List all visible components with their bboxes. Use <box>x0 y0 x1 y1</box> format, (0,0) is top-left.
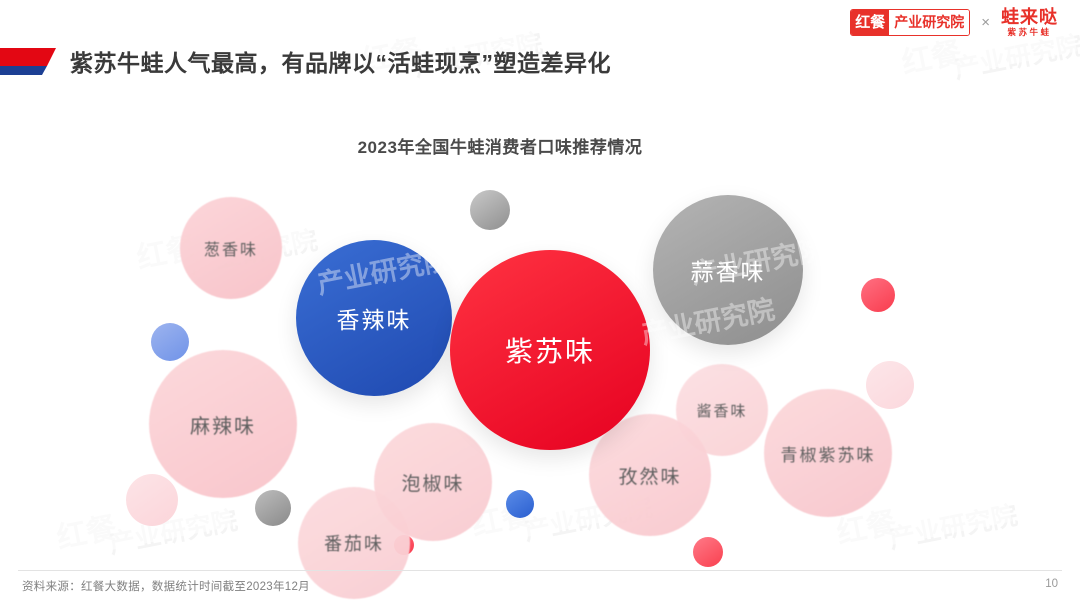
hongcan-logo: 红餐 产业研究院 <box>850 9 970 36</box>
footer-divider <box>18 570 1062 571</box>
red-dot-right <box>861 278 895 312</box>
bubble-label: 麻辣味 <box>190 410 256 439</box>
walaida-logo-main: 蛙来哒 <box>1001 8 1058 26</box>
page-number: 10 <box>1045 578 1058 590</box>
bubble-泡椒味[interactable]: 泡椒味 <box>374 423 492 541</box>
blue-dot-left <box>151 323 189 361</box>
footer-source-note: 资料来源：红餐大数据，数据统计时间截至2023年12月 <box>22 578 310 594</box>
bubble-麻辣味[interactable]: 麻辣味 <box>149 350 297 498</box>
hongcan-logo-mark: 红餐 <box>851 10 889 35</box>
bubble-label: 香辣味 <box>337 301 412 335</box>
bubble-label: 孜然味 <box>618 462 681 489</box>
hongcan-logo-text: 产业研究院 <box>889 10 969 35</box>
bubble-香辣味[interactable]: 香辣味 <box>296 240 452 396</box>
page-title: 紫苏牛蛙人气最高，有品牌以“活蛙现烹”塑造差异化 <box>70 44 611 78</box>
gray-dot-top <box>470 190 510 230</box>
walaida-logo-sub: 紫苏牛蛙 <box>1007 28 1051 37</box>
chart-heading: 2023年全国牛蛙消费者口味推荐情况 <box>0 133 1000 158</box>
pink-dot-right-low <box>866 361 914 409</box>
logo-separator-icon: × <box>979 14 992 31</box>
bubble-label: 青椒紫苏味 <box>781 441 876 466</box>
bubble-青椒紫苏味[interactable]: 青椒紫苏味 <box>764 389 892 517</box>
slide-root: 红餐 产业研究院 红餐 产业研究院 红餐 产业研究院 红餐 产业研究院 红餐 产… <box>0 0 1080 608</box>
bubble-label: 蒜香味 <box>691 253 766 287</box>
blue-dot-center <box>506 490 534 518</box>
bubble-label: 泡椒味 <box>401 469 464 496</box>
logo-lockup: 红餐 产业研究院 × 蛙来哒 紫苏牛蛙 <box>850 8 1058 37</box>
walaida-logo: 蛙来哒 紫苏牛蛙 <box>1001 8 1058 37</box>
flag-accent-icon <box>0 46 56 76</box>
bubble-紫苏味[interactable]: 紫苏味 <box>450 250 650 450</box>
bubble-孜然味[interactable]: 孜然味 <box>589 414 711 536</box>
bubble-chart: 酱香味葱香味番茄味泡椒味孜然味青椒紫苏味麻辣味蒜香味香辣味紫苏味 <box>0 170 1080 565</box>
gray-dot-bottom-left <box>255 490 291 526</box>
bubble-蒜香味[interactable]: 蒜香味 <box>653 195 803 345</box>
title-row: 紫苏牛蛙人气最高，有品牌以“活蛙现烹”塑造差异化 <box>0 44 611 78</box>
pink-dot-left-edge <box>126 474 178 526</box>
bubble-label: 酱香味 <box>696 400 747 421</box>
bubble-label: 番茄味 <box>324 530 384 556</box>
bubble-葱香味[interactable]: 葱香味 <box>180 197 282 299</box>
bubble-label: 葱香味 <box>204 236 258 260</box>
red-dot-bottom <box>693 537 723 567</box>
bubble-label: 紫苏味 <box>505 330 595 370</box>
